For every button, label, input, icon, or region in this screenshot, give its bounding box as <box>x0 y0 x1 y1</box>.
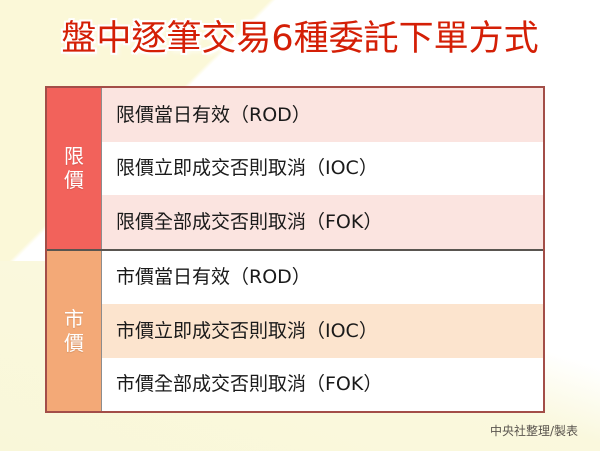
section-label-market-text: 市價 <box>62 307 86 355</box>
section-rows-market: 市價當日有效（ROD） 市價立即成交否則取消（IOC） 市價全部成交否則取消（F… <box>102 251 543 412</box>
table-row: 市價立即成交否則取消（IOC） <box>102 304 543 358</box>
section-label-limit-text: 限價 <box>62 144 86 192</box>
table-row: 市價全部成交否則取消（FOK） <box>102 358 543 412</box>
section-label-market: 市價 <box>47 251 102 412</box>
table-row-label: 限價全部成交否則取消（FOK） <box>116 210 382 234</box>
order-types-table: 限價 限價當日有效（ROD） 限價立即成交否則取消（IOC） 限價全部成交否則取… <box>45 86 545 413</box>
table-section-limit: 限價 限價當日有效（ROD） 限價立即成交否則取消（IOC） 限價全部成交否則取… <box>47 88 543 251</box>
table-row: 限價全部成交否則取消（FOK） <box>102 195 543 249</box>
table-row: 限價立即成交否則取消（IOC） <box>102 142 543 196</box>
page-title: 盤中逐筆交易6種委託下單方式 <box>61 16 538 62</box>
table-row-label: 市價立即成交否則取消（IOC） <box>116 319 378 343</box>
table-row: 市價當日有效（ROD） <box>102 251 543 305</box>
table-row-label: 市價當日有效（ROD） <box>116 265 311 289</box>
table-row-label: 市價全部成交否則取消（FOK） <box>116 372 382 396</box>
table-row-label: 限價當日有效（ROD） <box>116 103 311 127</box>
title-container: 盤中逐筆交易6種委託下單方式 <box>0 16 600 62</box>
section-label-limit: 限價 <box>47 88 102 249</box>
source-credit: 中央社整理/製表 <box>490 423 578 439</box>
table-row: 限價當日有效（ROD） <box>102 88 543 142</box>
table-row-label: 限價立即成交否則取消（IOC） <box>116 156 378 180</box>
section-rows-limit: 限價當日有效（ROD） 限價立即成交否則取消（IOC） 限價全部成交否則取消（F… <box>102 88 543 249</box>
infographic-slide: 盤中逐筆交易6種委託下單方式 限價 限價當日有效（ROD） 限價立即成交否則取消… <box>0 0 600 451</box>
table-section-market: 市價 市價當日有效（ROD） 市價立即成交否則取消（IOC） 市價全部成交否則取… <box>47 251 543 412</box>
